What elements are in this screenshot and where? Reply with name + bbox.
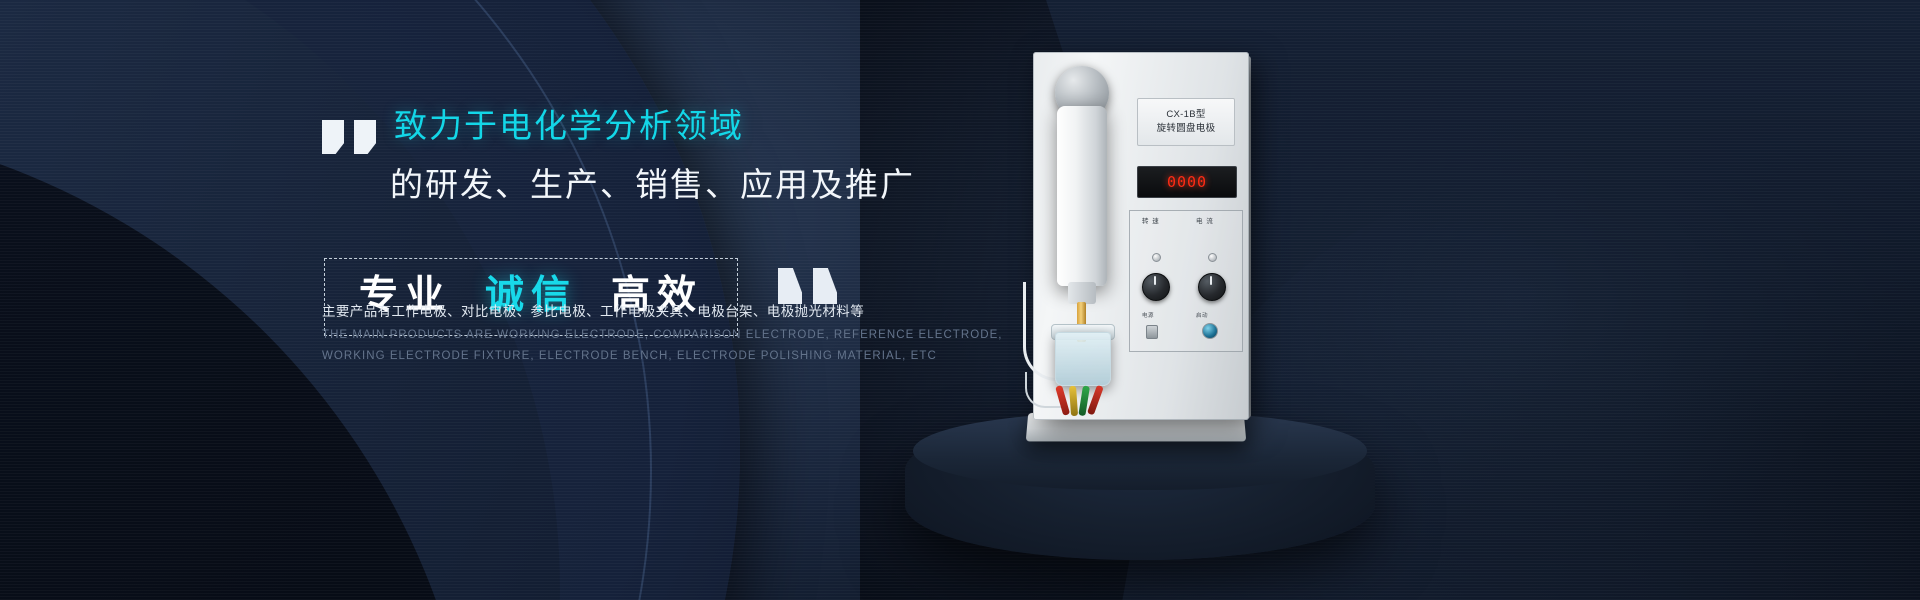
led-display: 0000 bbox=[1137, 166, 1237, 198]
instrument-nameplate: CX-1B型 旋转圆盘电极 bbox=[1137, 98, 1235, 146]
headline-line1: 致力于电化学分析领域 bbox=[394, 104, 744, 148]
hero-banner: 致力于电化学分析领域 的研发、生产、销售、应用及推广 专业 诚信 高效 主要产品… bbox=[0, 0, 1920, 600]
current-knob[interactable] bbox=[1198, 273, 1226, 301]
products-description-en: THE MAIN PRODUCTS ARE WORKING ELECTRODE,… bbox=[322, 325, 1003, 367]
panel-screw-left bbox=[1152, 253, 1161, 262]
led-display-value: 0000 bbox=[1167, 173, 1207, 191]
products-description-en-line2: WORKING ELECTRODE FIXTURE, ELECTRODE BEN… bbox=[322, 346, 1003, 367]
rotor-collet bbox=[1068, 282, 1096, 304]
electrode-lead-clips bbox=[1047, 386, 1123, 426]
lead-clip-yellow bbox=[1069, 386, 1078, 416]
power-toggle-switch[interactable] bbox=[1146, 325, 1158, 339]
control-panel: 转 速 电 流 电源 启动 bbox=[1129, 210, 1243, 352]
switch-label-power: 电源 bbox=[1142, 311, 1154, 319]
connector-jack bbox=[1202, 323, 1218, 339]
products-description-cn: 主要产品有工作电极、对比电极、参比电极、工作电极夹具、电极台架、电极抛光材料等 bbox=[322, 300, 864, 320]
lead-clip-red bbox=[1055, 385, 1070, 416]
switch-label-start: 启动 bbox=[1196, 311, 1208, 319]
products-description-en-line1: THE MAIN PRODUCTS ARE WORKING ELECTRODE,… bbox=[322, 325, 1003, 346]
nameplate-name: 旋转圆盘电极 bbox=[1157, 122, 1216, 136]
quote-open-icon bbox=[322, 120, 378, 158]
control-label-speed: 转 速 bbox=[1142, 215, 1160, 225]
nameplate-model: CX-1B型 bbox=[1166, 108, 1205, 122]
speed-knob[interactable] bbox=[1142, 273, 1170, 301]
product-photo: CX-1B型 旋转圆盘电极 0000 转 速 电 流 电源 启动 bbox=[905, 20, 1465, 540]
control-label-current: 电 流 bbox=[1196, 215, 1214, 225]
rotor-motor-body bbox=[1057, 106, 1107, 286]
panel-screw-right bbox=[1208, 253, 1217, 262]
